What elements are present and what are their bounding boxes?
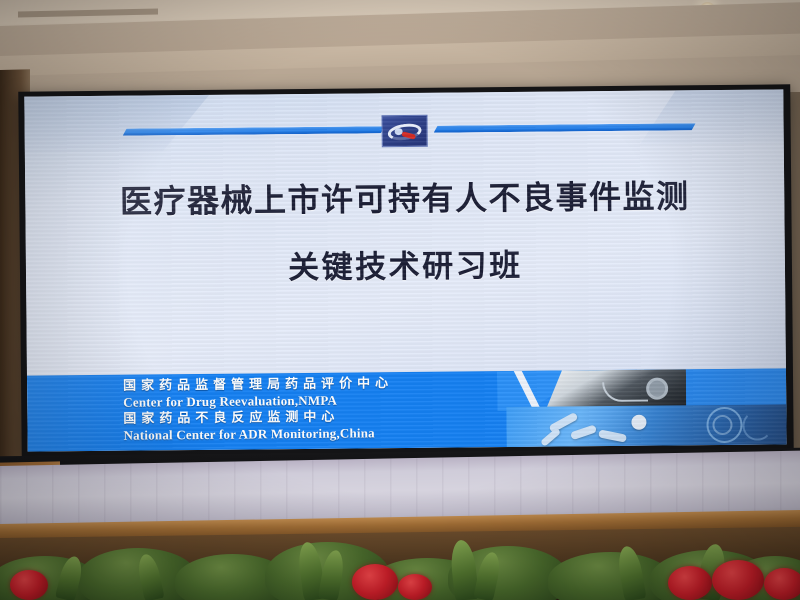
cdr-nmpa-logo-icon bbox=[381, 115, 427, 147]
plant-flower bbox=[668, 566, 712, 600]
pill-capsule-shape bbox=[598, 429, 627, 442]
footer-org2-english: National Center for ADR Monitoring,China bbox=[123, 425, 393, 444]
pill-capsule-shape bbox=[570, 424, 597, 440]
decorative-plant-row bbox=[0, 522, 800, 600]
slide-title-line-1: 医疗器械上市许可持有人不良事件监测 bbox=[25, 177, 784, 221]
plant-flower bbox=[764, 568, 800, 600]
pills-photo-icon bbox=[506, 404, 786, 447]
pill-tablet-shape bbox=[631, 415, 646, 430]
footer-org1-chinese: 国家药品监督管理局药品评价中心 bbox=[123, 376, 393, 395]
plant-flower bbox=[712, 560, 764, 600]
slide-title-line-2: 关键技术研习班 bbox=[26, 246, 785, 289]
presentation-slide: 医疗器械上市许可持有人不良事件监测 关键技术研习班 bbox=[24, 89, 786, 451]
footer-medical-imagery bbox=[506, 368, 787, 447]
plant-flower bbox=[352, 564, 398, 600]
conference-room-scene: 医疗器械上市许可持有人不良事件监测 关键技术研习班 bbox=[0, 0, 800, 600]
led-screen-bezel: 医疗器械上市许可持有人不良事件监测 关键技术研习班 bbox=[18, 84, 793, 459]
tech-circle-shape-2 bbox=[712, 415, 732, 435]
plant-flower bbox=[398, 574, 432, 600]
slide-title-block: 医疗器械上市许可持有人不良事件监测 关键技术研习班 bbox=[25, 177, 785, 289]
slide-corner-shade-left bbox=[24, 89, 215, 152]
slide-corner-shade-right bbox=[639, 89, 786, 144]
led-screen-display: 医疗器械上市许可持有人不良事件监测 关键技术研习班 bbox=[24, 89, 786, 451]
plant-flower bbox=[10, 570, 48, 600]
footer-organization-text: 国家药品监督管理局药品评价中心 Center for Drug Reevalua… bbox=[123, 376, 394, 444]
stethoscope-chestpiece-shape bbox=[646, 377, 668, 399]
tech-arc-shape bbox=[742, 410, 772, 440]
slide-footer-band: 国家药品监督管理局药品评价中心 Center for Drug Reevalua… bbox=[27, 368, 787, 451]
